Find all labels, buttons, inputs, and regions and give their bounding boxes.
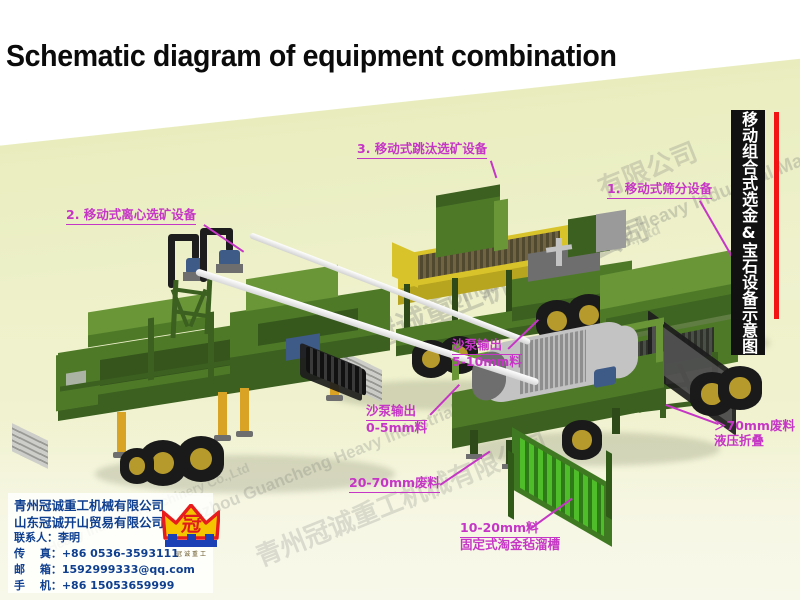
page-title: Schematic diagram of equipment combinati…	[6, 38, 617, 74]
trommel-wheel-1	[562, 420, 602, 460]
sluice-rail-left	[508, 450, 514, 519]
contact-mobile: 手 机：+86 15053659999	[14, 577, 174, 593]
label-pump-0-5: 沙泵输出 0-5mm料	[366, 404, 427, 436]
contact-email: 邮 箱：1592999333@qq.com	[14, 561, 195, 577]
jack-3-foot	[236, 431, 253, 437]
label-waste-70-line1: ＞70mm废料	[714, 419, 795, 434]
logo-mark-char: 冠	[180, 508, 204, 537]
centrifugal-post-1	[148, 318, 154, 381]
jig-green-housing-side	[494, 199, 508, 251]
jack-4-foot	[326, 395, 343, 401]
label-sluice: 10-20mm料 固定式淘金毡溜槽	[460, 521, 560, 553]
screen-wheel-2	[718, 366, 762, 410]
centrifuge-mount-right	[216, 264, 243, 273]
centrifuge-pipe-left-down	[192, 234, 199, 260]
label-waste-20-70-text: 20-70mm废料	[349, 476, 440, 493]
jack-2	[218, 392, 227, 437]
wheel-2	[178, 436, 224, 482]
label-sluice-line1: 10-20mm料	[460, 521, 560, 538]
label-equipment-3: 3. 移动式跳汰选矿设备	[357, 142, 487, 159]
generator-radiator	[596, 210, 626, 253]
label-pump-5-10-line2: 5-10mm料	[452, 355, 522, 370]
company-logo: 冠 冠诚重工	[160, 500, 222, 562]
trommel-jack-1	[470, 430, 478, 456]
label-waste-70: ＞70mm废料 液压折叠	[714, 419, 795, 449]
contact-fax: 传 真：+86 0536-3593111	[14, 545, 179, 561]
label-pump-0-5-line2: 0-5mm料	[366, 421, 427, 436]
sluice-rail-right	[606, 450, 612, 519]
label-equipment-1: 1. 移动式筛分设备	[607, 182, 712, 199]
diagram-canvas: 青州冠诚重工机械有限公司 Qingzhou Guancheng Heavy In…	[0, 0, 800, 600]
label-equipment-2-text: 2. 移动式离心选矿设备	[66, 208, 196, 225]
jack-1	[117, 412, 126, 454]
generator-exhaust	[556, 238, 562, 266]
label-equipment-3-text: 3. 移动式跳汰选矿设备	[357, 142, 487, 159]
label-equipment-2: 2. 移动式离心选矿设备	[66, 208, 196, 225]
label-waste-20-70: 20-70mm废料	[349, 476, 440, 493]
label-waste-70-line2: 液压折叠	[714, 434, 795, 449]
label-equipment-1-text: 1. 移动式筛分设备	[607, 182, 712, 199]
vertical-banner: 移动组合式选金&宝石设备示意图	[731, 110, 765, 355]
logo-base-bar	[165, 540, 217, 547]
logo-subtitle: 冠诚重工	[164, 549, 220, 558]
trommel-rail-post-3	[656, 319, 663, 362]
red-accent-bar	[774, 112, 779, 319]
jack-3	[240, 388, 249, 433]
label-sluice-line2: 固定式淘金毡溜槽	[460, 538, 560, 553]
vertical-banner-text: 移动组合式选金&宝石设备示意图	[740, 111, 756, 354]
trommel-jack-3	[612, 408, 620, 434]
label-pump-0-5-line1: 沙泵输出	[366, 404, 427, 421]
wheel-3	[120, 448, 154, 484]
contact-person: 联系人：李明	[14, 529, 80, 545]
